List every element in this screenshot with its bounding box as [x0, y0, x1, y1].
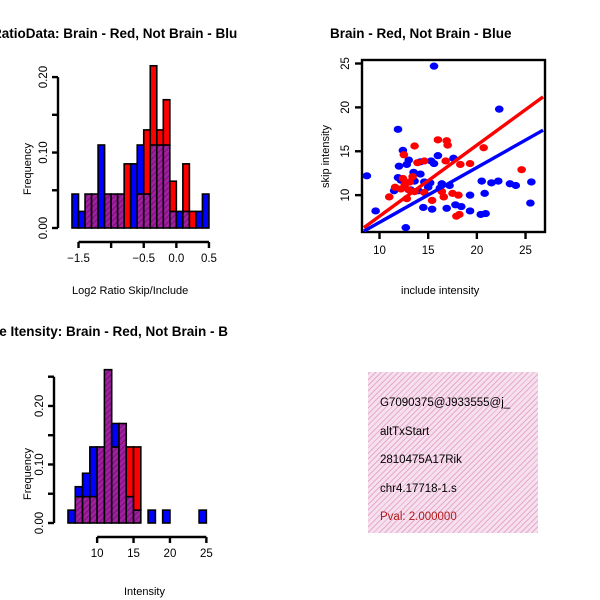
scatter-point-not-brain	[457, 203, 466, 210]
scatter-point-brain	[441, 157, 450, 164]
hist-bar-not-brain	[163, 510, 170, 523]
scatter-point-brain	[479, 144, 488, 151]
scatter-point-not-brain	[466, 207, 475, 214]
hist-bar-overlap	[85, 194, 92, 228]
hist-bar-overlap	[126, 497, 133, 523]
scatter-point-brain	[466, 160, 475, 167]
scatter-point-not-brain	[527, 178, 536, 185]
hist-intensity-plot-area: 0.000.100.2010152025	[0, 355, 300, 590]
hist-bar-not-brain	[196, 211, 203, 228]
scatter-point-not-brain	[495, 106, 504, 113]
hist-bar-overlap	[150, 145, 157, 228]
hist-bar-overlap	[157, 145, 164, 228]
hist-bar-overlap	[104, 370, 111, 523]
hist-bar-not-brain	[137, 145, 144, 194]
hist-bar-not-brain	[68, 510, 75, 523]
scatter-x-tick-label: 25	[519, 245, 532, 257]
scatter-x-tick-label: 15	[422, 245, 435, 257]
gene-info-box: G7090375@J933555@j_ altTxStart 2810475A1…	[368, 372, 538, 533]
x-tick-label: 0.5	[201, 253, 217, 265]
scatter-point-not-brain	[402, 161, 411, 168]
hist-bar-overlap	[111, 194, 118, 228]
hist-bar-brain	[157, 130, 164, 145]
hist-bar-not-brain	[98, 145, 105, 228]
y-tick-label: 0.20	[34, 395, 46, 417]
hist-bar-overlap	[144, 194, 151, 228]
hist_ratio-bars	[72, 66, 209, 228]
panel-histogram-ratio: RatioData: Brain - Red, Not Brain - Blu …	[0, 0, 300, 300]
y-tick-label: 0.10	[34, 453, 46, 475]
panel-scatter: Brain - Red, Not Brain - Blue 1015202510…	[300, 0, 600, 300]
hist-ratio-title: RatioData: Brain - Red, Not Brain - Blu	[0, 26, 237, 41]
x-tick-label: 25	[200, 548, 213, 560]
hist-bar-not-brain	[148, 510, 155, 523]
hist-bar-brain	[170, 181, 177, 211]
hist-intensity-title: ne Itensity: Brain - Red, Not Brain - B	[0, 324, 228, 339]
scatter-point-not-brain	[480, 190, 489, 197]
hist-bar-overlap	[97, 447, 104, 523]
scatter-point-brain	[408, 173, 417, 180]
scatter-xlabel: include intensity	[401, 285, 479, 297]
scatter-point-brain	[517, 166, 526, 173]
panel-histogram-intensity: ne Itensity: Brain - Red, Not Brain - B …	[0, 300, 300, 600]
scatter-y-tick-label: 10	[340, 189, 352, 202]
hist-ratio-plot-area: 0.000.100.20−1.5−0.50.00.5	[0, 50, 300, 290]
scatter-point-not-brain	[371, 207, 380, 214]
scatter-y-tick-label: 20	[340, 101, 352, 114]
scatter-point-brain	[410, 142, 419, 149]
x-tick-label: 15	[127, 548, 140, 560]
scatter-plot-area: 1015202510152025	[300, 50, 600, 290]
hist-bar-overlap	[137, 194, 144, 228]
info-line-gene-symbol: 2810475A17Rik	[380, 455, 538, 467]
scatter-point-brain	[456, 161, 465, 168]
scatter-y-tick-label: 25	[340, 57, 352, 70]
hist-bar-brain	[144, 130, 151, 194]
scatter-point-brain	[420, 157, 429, 164]
scatter-point-not-brain	[430, 63, 439, 70]
hist-bar-not-brain	[112, 424, 119, 447]
hist-bar-brain	[189, 211, 196, 228]
y-tick-label: 0.00	[38, 217, 50, 239]
scatter-point-brain	[401, 181, 410, 188]
hist-bar-overlap	[183, 211, 190, 228]
scatter-point-brain	[385, 193, 394, 200]
scatter-point-not-brain	[466, 192, 475, 199]
scatter-point-not-brain	[402, 224, 411, 231]
hist-intensity-ylabel: Frequency	[22, 448, 34, 500]
scatter-point-not-brain	[395, 163, 404, 170]
scatter-point-brain	[452, 213, 461, 220]
x-tick-label: 10	[91, 548, 104, 560]
scatter-y-tick-label: 15	[340, 145, 352, 158]
hist-bar-not-brain	[75, 487, 82, 497]
x-tick-label: 0.0	[168, 253, 184, 265]
y-tick-label: 0.10	[38, 141, 50, 163]
hist-bar-overlap	[105, 194, 112, 228]
scatter-point-not-brain	[416, 170, 425, 177]
info-line-event-type: altTxStart	[380, 427, 538, 439]
scatter-point-not-brain	[526, 199, 535, 206]
info-line-coordinate: chr4.17718-1.s	[380, 484, 538, 496]
hist-bar-brain	[150, 66, 157, 145]
info-line-probe-id: G7090375@J933555@j_	[380, 398, 538, 410]
hist-bar-not-brain	[90, 447, 97, 497]
scatter-x-tick-label: 20	[470, 245, 483, 257]
scatter-point-brain	[400, 151, 409, 158]
scatter-point-not-brain	[442, 205, 451, 212]
scatter-point-brain	[439, 193, 448, 200]
hist-bar-overlap	[90, 497, 97, 523]
scatter-point-not-brain	[394, 126, 403, 133]
scatter-content	[363, 63, 543, 232]
hist-bar-not-brain	[199, 510, 206, 523]
scatter-point-brain	[443, 142, 452, 149]
info-box-lines: G7090375@J933555@j_ altTxStart 2810475A1…	[368, 372, 538, 533]
scatter-x-tick-label: 10	[373, 245, 386, 257]
y-tick-label: 0.20	[38, 66, 50, 88]
hist-ratio-ylabel: Frequency	[22, 143, 34, 195]
y-tick-label: 0.00	[34, 512, 46, 534]
hist-bar-not-brain	[202, 194, 209, 228]
hist-bar-overlap	[92, 194, 99, 228]
scatter-point-not-brain	[511, 182, 520, 189]
x-tick-label: −0.5	[132, 253, 155, 265]
scatter-point-not-brain	[428, 206, 437, 213]
x-tick-label: 20	[164, 548, 177, 560]
hist-bar-overlap	[75, 497, 82, 523]
hist-bar-overlap	[134, 510, 141, 523]
scatter-point-not-brain	[434, 152, 443, 159]
scatter-point-not-brain	[363, 172, 372, 179]
scatter-point-not-brain	[477, 178, 486, 185]
scatter-point-not-brain	[494, 178, 503, 185]
hist-bar-overlap	[118, 194, 125, 228]
hist-ratio-xlabel: Log2 Ratio Skip/Include	[72, 285, 188, 297]
hist-bar-not-brain	[131, 164, 138, 228]
hist-bar-overlap	[170, 211, 177, 228]
hist-bar-overlap	[163, 145, 170, 228]
hist-bar-overlap	[119, 424, 126, 523]
scatter-point-brain	[434, 136, 443, 143]
hist-bar-not-brain	[83, 473, 90, 496]
hist_intensity-bars	[68, 370, 206, 523]
hist-bar-brain	[183, 164, 190, 212]
hist-bar-overlap	[83, 497, 90, 523]
hist-bar-overlap	[112, 447, 119, 523]
scatter-ylabel: skip intensity	[320, 125, 332, 188]
hist-bar-brain	[134, 447, 141, 510]
scatter-point-not-brain	[419, 204, 428, 211]
hist-bar-not-brain	[79, 211, 86, 228]
scatter-point-brain	[454, 192, 463, 199]
scatter-point-not-brain	[430, 160, 439, 167]
hist-bar-not-brain	[176, 211, 183, 228]
scatter-title: Brain - Red, Not Brain - Blue	[330, 26, 512, 41]
hist-bar-brain	[124, 164, 131, 228]
scatter-point-not-brain	[481, 210, 490, 217]
info-line-pval: Pval: 2.000000	[380, 512, 538, 524]
hist-bar-brain	[163, 100, 170, 145]
x-tick-label: −1.5	[67, 253, 90, 265]
hist-intensity-xlabel: Intensity	[124, 586, 165, 598]
hist-bar-brain	[126, 447, 133, 497]
hist-bar-not-brain	[72, 194, 79, 228]
scatter-point-brain	[428, 197, 437, 204]
